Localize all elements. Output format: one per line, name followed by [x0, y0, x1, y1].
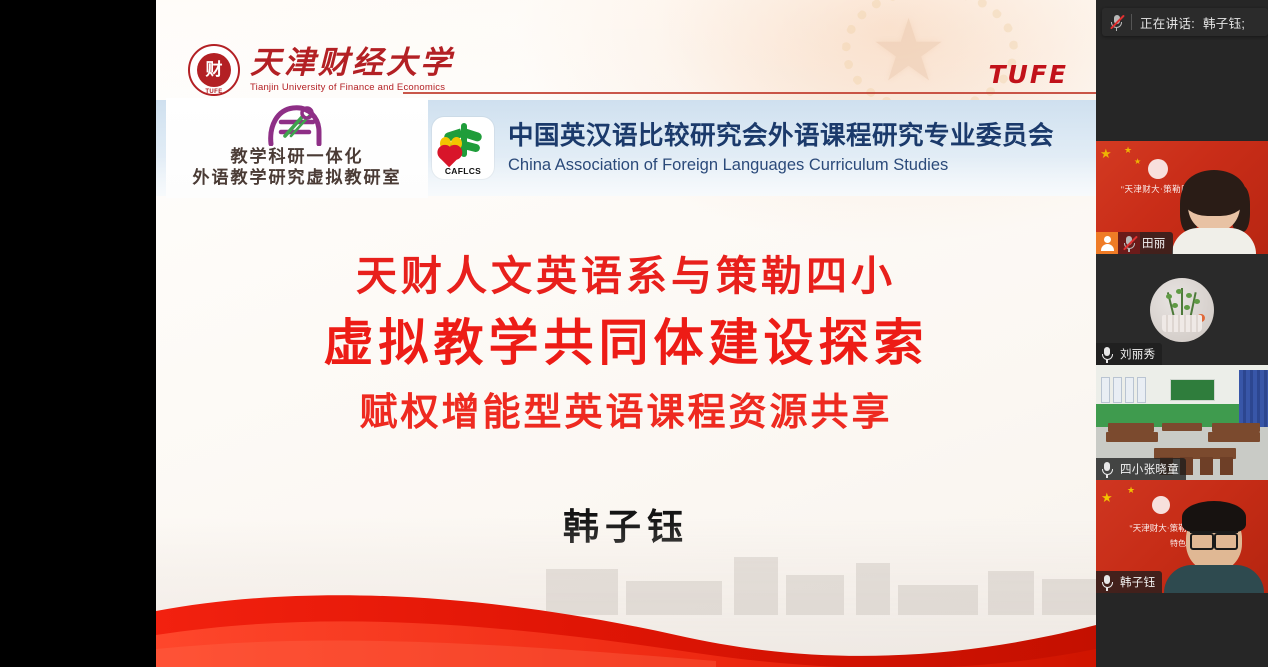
slide-title-line-2: 虚拟教学共同体建设探索	[156, 304, 1096, 382]
virtual-teaching-room-logo: 教学科研一体化 外语教学研究虚拟教研室	[166, 98, 428, 198]
speaking-name: 韩子钰;	[1203, 13, 1245, 32]
microphone-icon	[1096, 343, 1118, 365]
red-ribbon-decoration	[156, 549, 1096, 667]
person-icon	[1096, 232, 1118, 254]
microphone-muted-icon	[1118, 232, 1140, 254]
university-seal-icon: 财 TUFE	[188, 44, 240, 96]
participant-tile-3[interactable]: ★★ "天津财大·策勒四小" 交流共 特色党 韩子钰	[1096, 480, 1268, 593]
shared-screen-slide[interactable]: ★ 财 TUFE 天津财经大学 Tianjin University of Fi…	[156, 0, 1096, 667]
participant-avatar-image-3	[1166, 501, 1262, 593]
slide-title-line-1: 天财人文英语系与策勒四小	[156, 248, 1096, 304]
meeting-window: ★ 财 TUFE 天津财经大学 Tianjin University of Fi…	[0, 0, 1268, 667]
participant-avatar-image-1	[1150, 278, 1214, 342]
microphone-icon	[1096, 571, 1118, 593]
participant-name-badge-2: 四小张晓童	[1096, 458, 1186, 480]
participant-name-badge-0: 田丽	[1096, 232, 1173, 254]
participant-avatar-image-0	[1172, 176, 1256, 254]
caflcs-logo-icon: CAFLCS	[432, 117, 494, 179]
participant-name-2: 四小张晓童	[1118, 461, 1186, 477]
participant-tile-1[interactable]: 刘丽秀	[1096, 254, 1268, 365]
vtr-glyph-icon	[257, 102, 337, 146]
university-logo: 财 TUFE 天津财经大学 Tianjin University of Fina…	[188, 44, 454, 96]
association-banner: CAFLCS 中国英汉语比较研究会外语课程研究专业委员会 China Assoc…	[424, 103, 1084, 193]
header-rule	[403, 92, 1096, 94]
participant-tile-2[interactable]: 四小张晓童	[1096, 365, 1268, 480]
caflcs-abbr: CAFLCS	[432, 166, 494, 176]
association-name-en: China Association of Foreign Languages C…	[508, 153, 1054, 177]
participant-name-3: 韩子钰	[1118, 574, 1162, 590]
university-name-cn: 天津财经大学	[250, 47, 454, 80]
university-seal-glyph: 财	[197, 53, 231, 87]
slide-title-line-3: 赋权增能型英语课程资源共享	[156, 382, 1096, 444]
banner-divider	[1131, 14, 1132, 30]
speaking-label: 正在讲话:	[1140, 13, 1195, 32]
vtr-line-1: 教学科研一体化	[193, 146, 402, 167]
vtr-line-2: 外语教学研究虚拟教研室	[193, 167, 402, 188]
microphone-icon	[1096, 458, 1118, 480]
microphone-muted-icon	[1110, 14, 1123, 31]
active-speaker-banner: 正在讲话: 韩子钰;	[1102, 8, 1268, 36]
slide-title-block: 天财人文英语系与策勒四小 虚拟教学共同体建设探索 赋权增能型英语课程资源共享	[156, 248, 1096, 444]
tufe-wordmark: TUFE	[988, 60, 1068, 89]
participant-name-0: 田丽	[1140, 235, 1173, 251]
participant-name-badge-1: 刘丽秀	[1096, 343, 1162, 365]
participant-name-badge-3: 韩子钰	[1096, 571, 1162, 593]
university-seal-abbr: TUFE	[190, 89, 238, 95]
letterbox-left	[0, 0, 156, 667]
participant-tile-0[interactable]: ★★★ "天津财大·策勒四小" 李 交流共 田丽	[1096, 141, 1268, 254]
association-name-cn: 中国英汉语比较研究会外语课程研究专业委员会	[508, 119, 1054, 153]
participant-name-1: 刘丽秀	[1118, 346, 1162, 362]
